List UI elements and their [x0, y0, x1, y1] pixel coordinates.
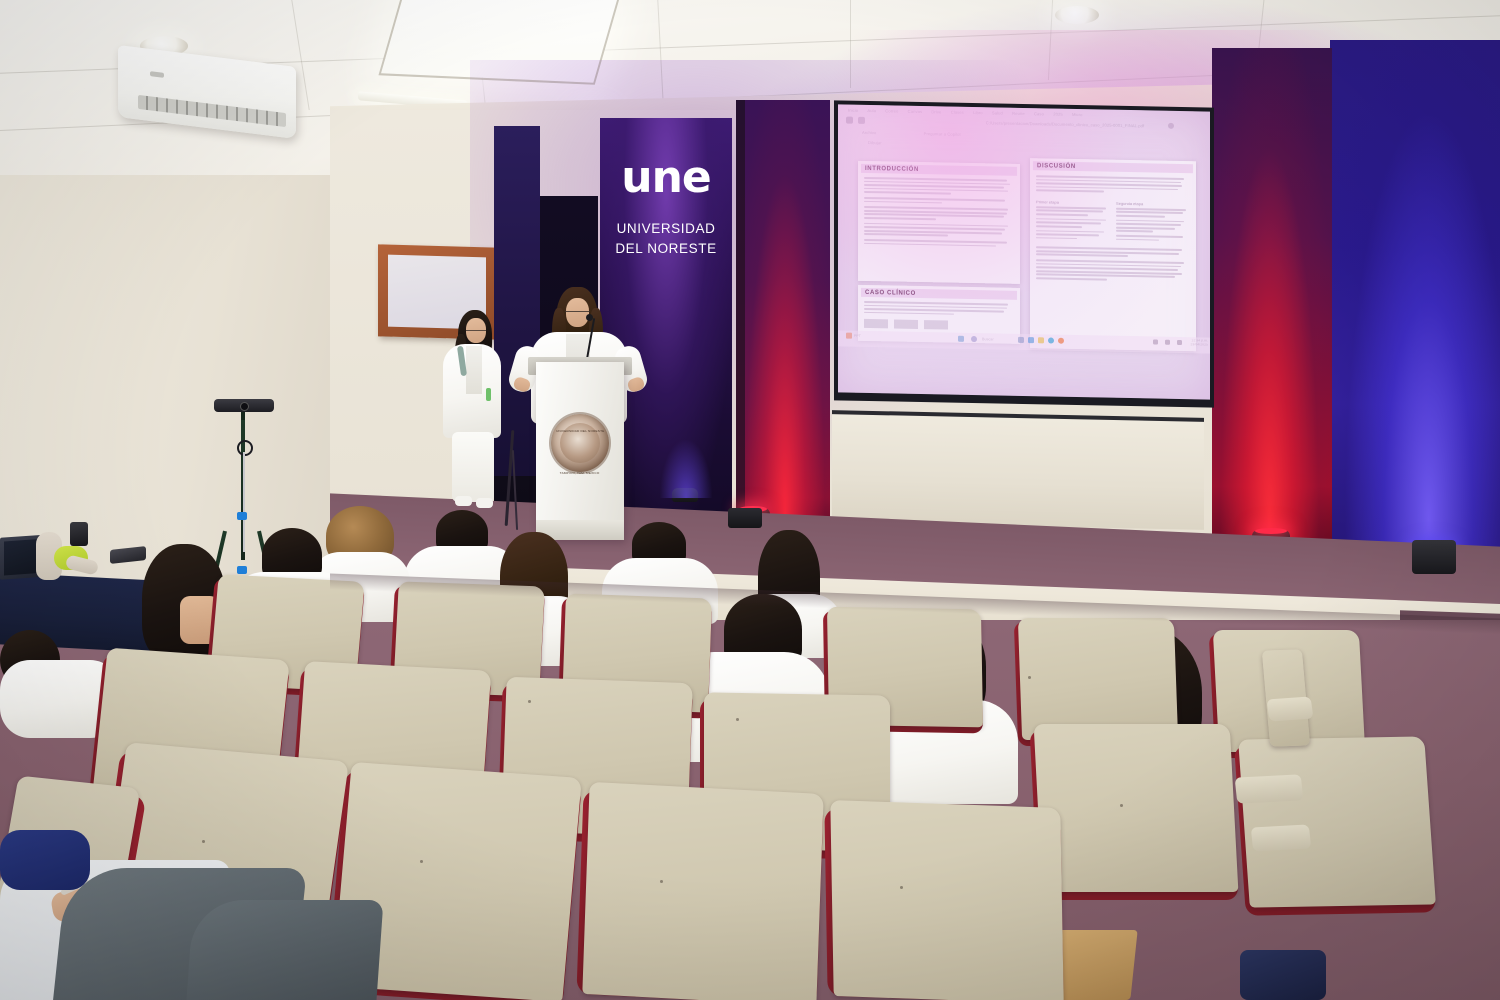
armrest: [1266, 696, 1313, 721]
camera-lens-icon: [240, 402, 249, 411]
red-uplight-lens: [1255, 528, 1287, 534]
seat[interactable]: [1018, 618, 1178, 740]
seat[interactable]: [582, 782, 823, 1000]
seat[interactable]: [1034, 724, 1239, 892]
seal-bottom-text: TAMPICO, TAM. MEXICO: [560, 471, 600, 475]
floor-monitor-speaker: [728, 508, 762, 528]
armrest: [1251, 824, 1312, 851]
backdrop-panel-red: [1212, 48, 1332, 546]
backdrop-column-edge: [736, 100, 745, 532]
eyeglasses-icon: [466, 326, 486, 331]
backdrop-panel-blue: [1330, 40, 1500, 560]
equipment-box: [70, 522, 88, 546]
violet-uplight-beam: [660, 440, 712, 498]
projection-screen: Inicio Aula Correo Canvas Drive Clases L…: [838, 104, 1210, 399]
shoe: [476, 498, 493, 508]
org-name-line2: DEL NORESTE: [600, 241, 732, 256]
trousers: [187, 900, 384, 1000]
stage-cabinet: [832, 410, 1204, 530]
screen-color-cast: [838, 104, 1210, 399]
bag: [1240, 950, 1326, 1000]
shoe: [455, 496, 472, 506]
seal-top-text-wrap: UNIVERSIDAD DEL NORESTE: [553, 419, 607, 437]
trousers: [452, 432, 494, 502]
id-badge: [486, 388, 491, 401]
seal-bottom-text-wrap: TAMPICO, TAM. MEXICO: [553, 461, 607, 479]
org-name-line1: UNIVERSIDAD: [600, 221, 732, 236]
camera-cable: [243, 452, 245, 552]
cable-clip: [237, 566, 247, 574]
plush-toy: [36, 528, 98, 584]
cable-clip: [237, 512, 247, 520]
face: [566, 298, 589, 327]
seal-top-text: UNIVERSIDAD DEL NORESTE: [556, 429, 604, 433]
une-wordmark: une: [600, 156, 732, 200]
auditorium-photo: une UNIVERSIDAD DEL NORESTE Inicio Aula …: [0, 0, 1500, 1000]
seat[interactable]: [1238, 736, 1436, 907]
foreground-sleeve: [0, 830, 90, 890]
seat[interactable]: [830, 800, 1063, 1000]
armrest: [1235, 774, 1304, 803]
microphone-head: [586, 314, 593, 321]
plush-arm: [65, 554, 99, 575]
floor-monitor-speaker: [1412, 540, 1456, 574]
eyeglasses-icon: [565, 306, 590, 312]
coat-opening: [466, 346, 482, 394]
backdrop-column-red: [736, 100, 830, 532]
cable-loop: [237, 440, 253, 456]
